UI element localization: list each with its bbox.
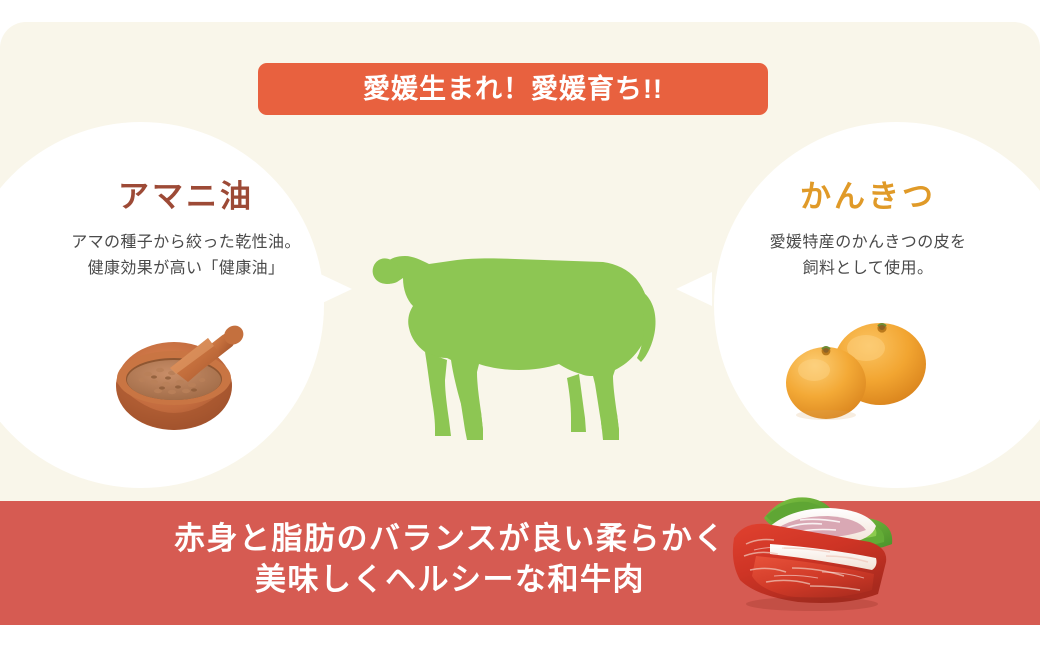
top-ribbon-text: 愛媛生まれ！愛媛育ち!!	[363, 76, 663, 103]
kankitsu-description: 愛媛特産のかんきつの皮を 飼料として使用。	[718, 230, 1018, 282]
amani-oil-content: アマニ油 アマの種子から絞った乾性油。 健康効果が高い「健康油」	[36, 180, 336, 282]
cow-silhouette	[365, 234, 665, 456]
amani-oil-heading: アマニ油	[36, 180, 336, 214]
flaxseed-bowl-photo	[96, 312, 264, 436]
kankitsu-content: かんきつ 愛媛特産のかんきつの皮を 飼料として使用。	[718, 180, 1018, 282]
poster-root: 愛媛生まれ！愛媛育ち!! アマニ油 アマの種子から絞った乾性油。 健康効果が高い…	[0, 0, 1040, 646]
citrus-fruits-photo	[778, 316, 938, 426]
kankitsu-heading: かんきつ	[718, 180, 1018, 214]
speech-bubble-tail-right	[676, 272, 712, 306]
wagyu-beef-photo	[726, 486, 912, 616]
top-ribbon-banner: 愛媛生まれ！愛媛育ち!!	[258, 63, 768, 115]
amani-oil-description: アマの種子から絞った乾性油。 健康効果が高い「健康油」	[36, 230, 336, 282]
